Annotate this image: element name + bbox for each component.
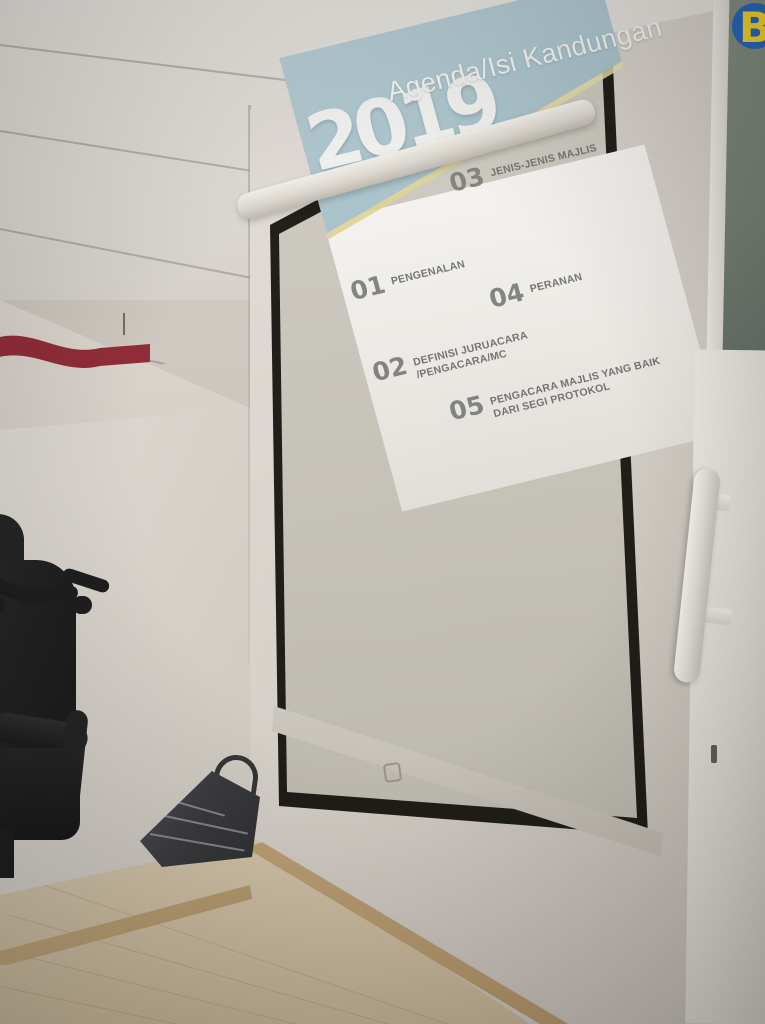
bag-stripe — [146, 811, 248, 835]
corner-bag[interactable] — [140, 755, 270, 870]
door-handle-mount-bottom — [705, 607, 733, 626]
agenda-item-number: 02 — [370, 353, 410, 385]
agenda-item-number: 05 — [447, 392, 487, 424]
screen-pull-ring[interactable] — [383, 762, 402, 783]
chair-gas-column — [0, 830, 14, 878]
agenda-item-number: 03 — [447, 164, 487, 196]
door-panel[interactable] — [685, 349, 765, 1024]
svg-text:B: B — [739, 3, 765, 52]
room-photo-scene: 2019 Agenda/Isi Kandungan 01 PENGENALAN … — [0, 0, 765, 1024]
bag-stripe — [142, 791, 225, 817]
window-sticker-icon: B — [731, 2, 765, 62]
agenda-item-number: 01 — [348, 272, 388, 304]
bag-stripe — [150, 833, 245, 852]
chair-seat — [0, 748, 80, 840]
door-jamb-fitting — [711, 745, 717, 763]
wall-stripe-decoration — [0, 318, 150, 378]
chair-caster-wheel — [72, 596, 92, 614]
wall-hook — [123, 313, 125, 335]
agenda-item-number: 04 — [486, 279, 526, 311]
office-chair[interactable] — [0, 560, 130, 940]
